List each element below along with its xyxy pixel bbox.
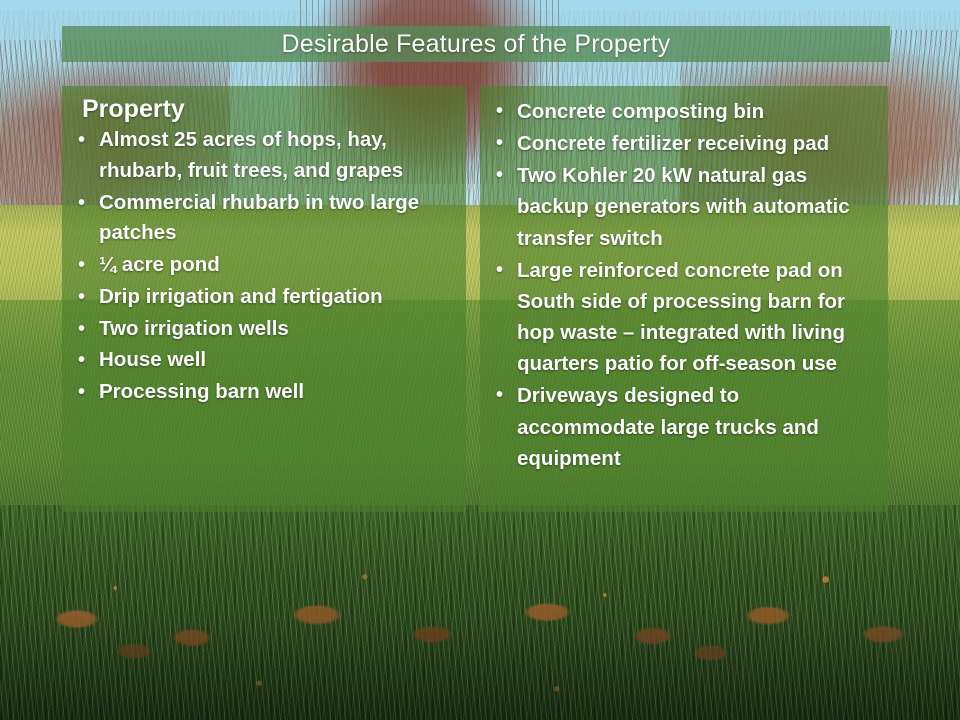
slide-title: Desirable Features of the Property [282,30,671,59]
left-panel-heading: Property [82,96,452,123]
list-item: House well [74,345,452,376]
presentation-slide: Desirable Features of the Property Prope… [0,0,960,720]
right-bullet-list: Concrete composting bin Concrete fertili… [492,96,874,474]
list-item: Processing barn well [74,377,452,408]
list-item: Drip irrigation and fertigation [74,282,452,313]
left-bullet-list: Almost 25 acres of hops, hay, rhubarb, f… [74,125,452,408]
list-item: Concrete composting bin [492,96,874,127]
list-item: Large reinforced concrete pad on South s… [492,255,874,380]
list-item: Driveways designed to accommodate large … [492,380,874,473]
list-item: ¼ acre pond [74,250,452,281]
left-content-panel: Property Almost 25 acres of hops, hay, r… [62,86,466,512]
list-item: Two Kohler 20 kW natural gas backup gene… [492,160,874,253]
list-item: Almost 25 acres of hops, hay, rhubarb, f… [74,125,452,187]
title-banner: Desirable Features of the Property [62,26,890,62]
list-item: Concrete fertilizer receiving pad [492,128,874,159]
list-item: Commercial rhubarb in two large patches [74,188,452,250]
right-content-panel: Concrete composting bin Concrete fertili… [480,86,888,512]
list-item: Two irrigation wells [74,314,452,345]
bottom-vignette [0,600,960,720]
